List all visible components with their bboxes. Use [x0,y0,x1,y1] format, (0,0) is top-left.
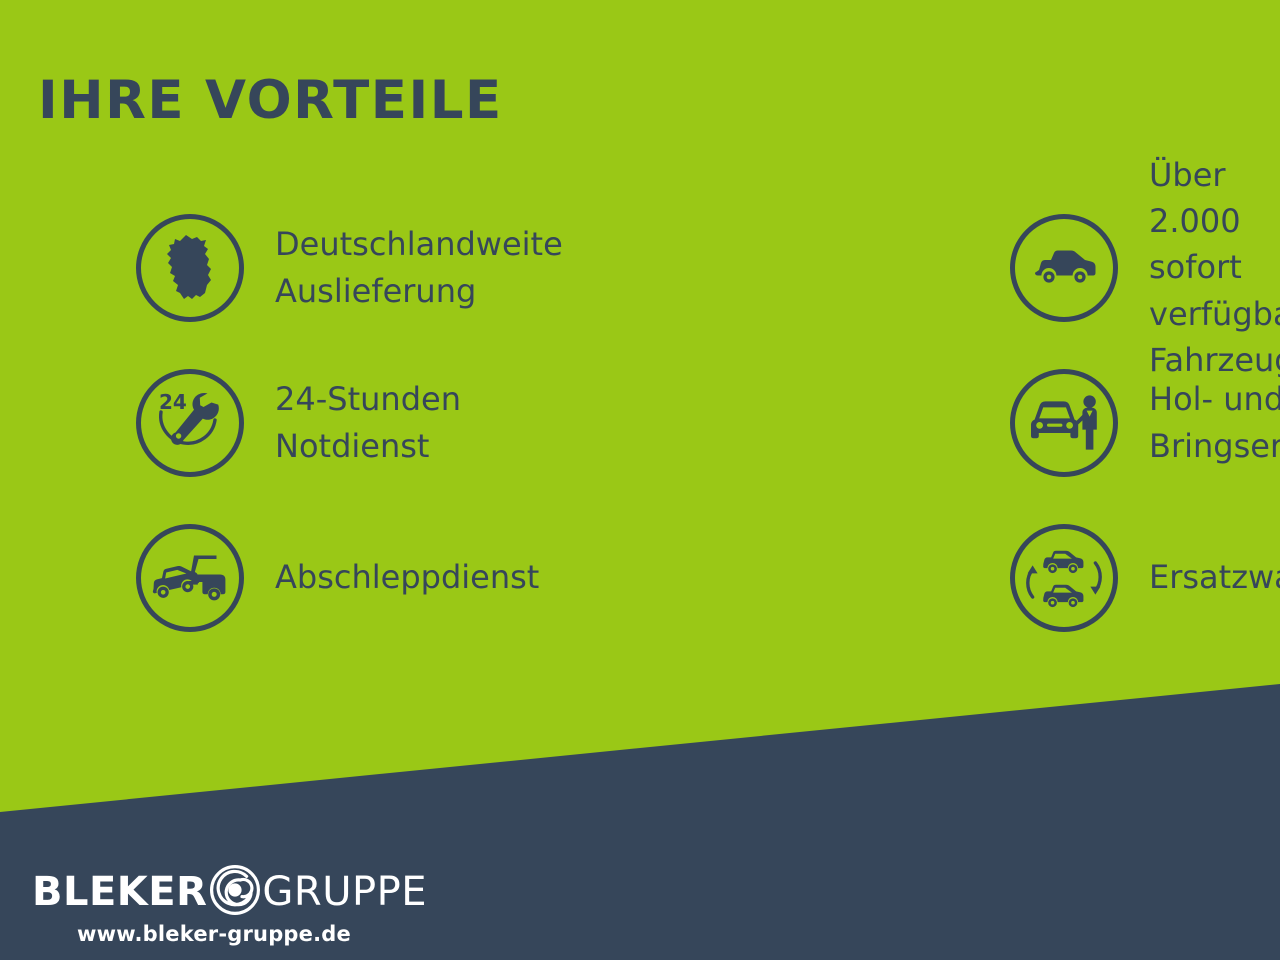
benefits-grid: Deutschlandweite Auslieferung Über 2.000… [0,190,1280,655]
car-side-icon [1010,214,1118,322]
benefit-item-verfuegbare-fahrzeuge[interactable]: Über 2.000 sofort verfügbare Fahrzeuge [505,190,1280,345]
spiral-swirl-icon [209,864,261,920]
germany-map-icon [136,214,244,322]
benefit-label: Hol- und Bringservice [1149,376,1280,469]
car-exchange-icon [1010,524,1118,632]
benefit-row: Deutschlandweite Auslieferung Über 2.000… [0,190,1280,345]
svg-text:24: 24 [159,390,187,414]
slide-root: IHRE VORTEILE Deutschlandweite Ausliefer… [0,0,1280,960]
tow-truck-icon [136,524,244,632]
benefit-item-abschleppdienst[interactable]: Abschleppdienst [0,500,505,655]
benefit-label: Abschleppdienst [275,554,539,600]
benefit-item-24-stunden-notdienst[interactable]: 24 24-Stunden Notdienst [0,345,505,500]
logo-brand-secondary: GRUPPE [262,872,427,912]
benefit-label: 24-Stunden Notdienst [275,376,461,469]
logo-wordmark: BLEKER GRUPPE [32,866,362,918]
car-with-attendant-icon [1010,369,1118,477]
benefit-row: 24 24-Stunden Notdienst [0,345,1280,500]
24-hour-wrench-icon: 24 [136,369,244,477]
footer-logo[interactable]: BLEKER GRUPPE www.bleker-gruppe.de [32,866,362,946]
logo-website-url[interactable]: www.bleker-gruppe.de [32,922,362,946]
benefit-item-deutschlandweite-auslieferung[interactable]: Deutschlandweite Auslieferung [0,190,505,345]
benefit-item-hol-und-bringservice[interactable]: Hol- und Bringservice [505,345,1280,500]
page-title: IHRE VORTEILE [38,74,503,127]
benefit-label: Ersatzwagen [1149,554,1280,600]
benefit-item-ersatzwagen[interactable]: Ersatzwagen [505,500,1280,655]
benefit-row: Abschleppdienst [0,500,1280,655]
logo-brand-primary: BLEKER [32,872,207,912]
